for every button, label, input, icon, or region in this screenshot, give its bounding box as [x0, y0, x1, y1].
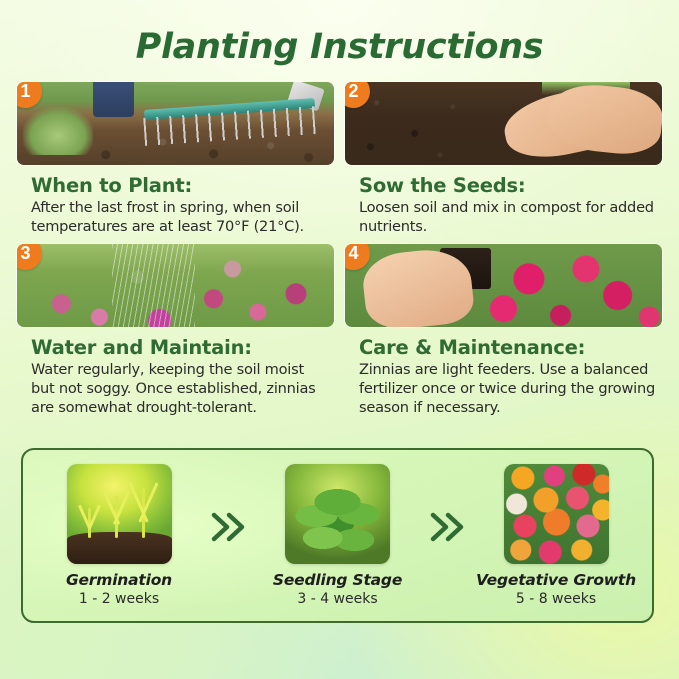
- infographic-page: Planting Instructions 1 When to Plant: A…: [0, 0, 679, 679]
- stage-duration-germination: 1 - 2 weeks: [39, 591, 199, 607]
- sprouting-seedlings-photo: [67, 464, 172, 564]
- rake-soil-photo: 1: [17, 82, 334, 165]
- step-card-2: 2 Sow the Seeds: Loosen soil and mix in …: [345, 82, 662, 236]
- watering-zinnias-photo: 3: [17, 244, 334, 327]
- young-plant-artwork: [285, 464, 390, 564]
- step-heading-3: Water and Maintain:: [31, 336, 334, 359]
- step-body-1: After the last frost in spring, when soi…: [31, 198, 331, 236]
- stage-name-germination: Germination: [39, 571, 199, 589]
- growth-timeline-panel: Germination 1 - 2 weeks Seedling Stage 3…: [21, 448, 654, 623]
- hand-holding-zinnia-photo: 4: [345, 244, 662, 327]
- young-plant-photo: [285, 464, 390, 564]
- sprout-shape-1: [88, 508, 91, 538]
- step-card-3: 3 Water and Maintain: Water regularly, k…: [17, 244, 334, 417]
- sprout-shape-2: [115, 496, 118, 538]
- stage-name-vegetative: Vegetative Growth: [476, 571, 636, 589]
- step-body-2: Loosen soil and mix in compost for added…: [359, 198, 659, 236]
- hands-in-soil-artwork: [345, 82, 662, 165]
- steps-grid: 1 When to Plant: After the last frost in…: [17, 82, 662, 418]
- step-card-4: 4 Care & Maintenance: Zinnias are light …: [345, 244, 662, 417]
- gardener-legs-shape: [93, 82, 134, 117]
- sprout-shape-3: [142, 488, 145, 538]
- step-body-3: Water regularly, keeping the soil moist …: [31, 360, 331, 417]
- hand-holding-zinnia-artwork: [345, 244, 662, 327]
- growth-stage-vegetative: Vegetative Growth 5 - 8 weeks: [476, 464, 636, 607]
- water-spray-shape: [112, 244, 194, 327]
- chevron-right-icon-1: [202, 510, 254, 544]
- step-heading-1: When to Plant:: [31, 174, 334, 197]
- step-heading-4: Care & Maintenance:: [359, 336, 662, 359]
- step-heading-2: Sow the Seeds:: [359, 174, 662, 197]
- growth-stage-seedling: Seedling Stage 3 - 4 weeks: [258, 464, 418, 607]
- page-title: Planting Instructions: [0, 27, 679, 67]
- chevron-right-icon-2: [421, 510, 473, 544]
- step-body-4: Zinnias are light feeders. Use a balance…: [359, 360, 659, 417]
- step-card-1: 1 When to Plant: After the last frost in…: [17, 82, 334, 236]
- sprouting-seedlings-artwork: [67, 464, 172, 564]
- zinnia-blooms-artwork: [504, 464, 609, 564]
- bush-shape: [23, 107, 93, 155]
- stage-duration-seedling: 3 - 4 weeks: [258, 591, 418, 607]
- stage-duration-vegetative: 5 - 8 weeks: [476, 591, 636, 607]
- watering-zinnias-artwork: [17, 244, 334, 327]
- rake-soil-artwork: [17, 82, 334, 165]
- growth-stage-germination: Germination 1 - 2 weeks: [39, 464, 199, 607]
- hands-in-soil-photo: 2: [345, 82, 662, 165]
- zinnia-blooms-photo: [504, 464, 609, 564]
- stage-name-seedling: Seedling Stage: [258, 571, 418, 589]
